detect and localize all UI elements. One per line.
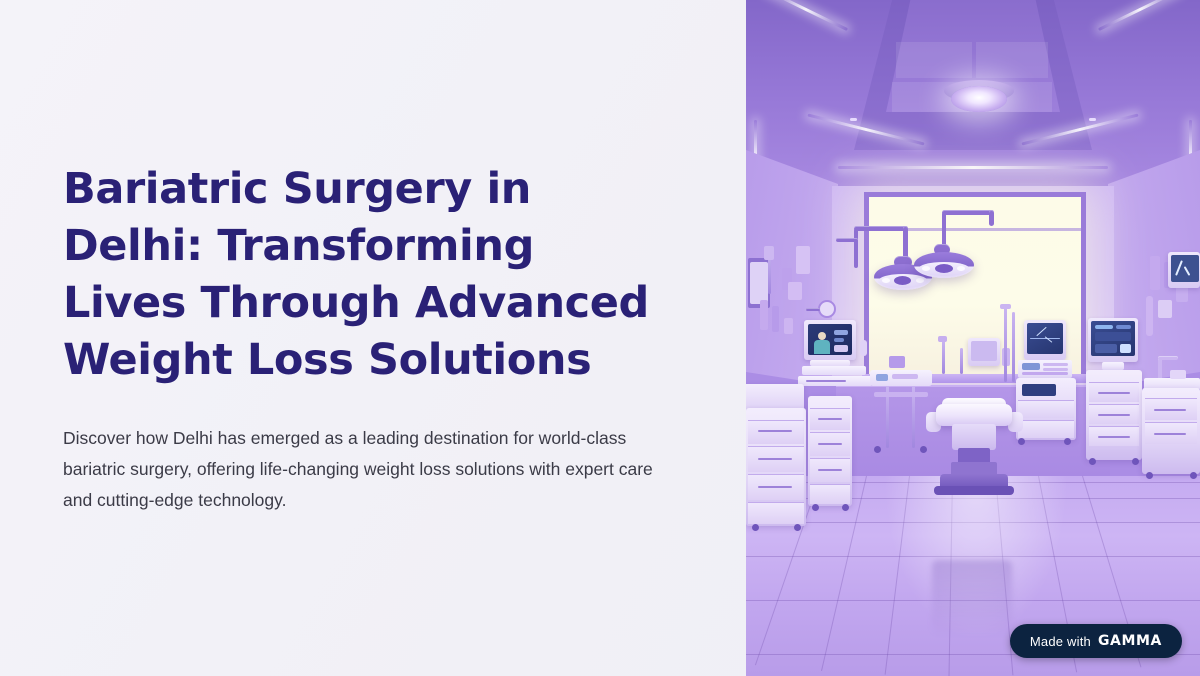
- badge-prefix-text: Made with: [1030, 634, 1091, 649]
- ceiling-led-strip: [764, 0, 848, 31]
- sink-basin: [1170, 370, 1186, 379]
- page-title: Bariatric Surgery in Delhi: Transforming…: [63, 161, 663, 389]
- iv-hook: [1000, 304, 1011, 309]
- surgical-light-arm: [854, 226, 908, 231]
- cart-wheel: [1190, 472, 1197, 479]
- wall-picture-image: [750, 262, 768, 304]
- window-frame: [1081, 192, 1086, 378]
- cart-handle: [806, 380, 846, 382]
- sill-monitor-screen: [971, 341, 997, 361]
- slide-root: Bariatric Surgery in Delhi: Transforming…: [0, 0, 1200, 676]
- cart-wheel: [874, 446, 881, 453]
- ceiling-led-strip: [1098, 0, 1182, 31]
- operating-table-top: [936, 404, 1012, 426]
- sill-stand: [960, 348, 963, 374]
- wall-equipment: [764, 246, 774, 260]
- made-with-gamma-badge[interactable]: Made with GAMMA: [1010, 624, 1182, 658]
- cabinet-drawer: [748, 502, 804, 524]
- ceiling-light: [951, 86, 1007, 112]
- wall-equipment: [1176, 286, 1188, 302]
- surgical-light-arm: [989, 210, 994, 226]
- wall-equipment: [796, 246, 810, 274]
- ceiling-tile: [896, 42, 972, 78]
- monitor-ui-element: [1095, 332, 1131, 341]
- cart-wheel: [812, 504, 819, 511]
- surgical-light-arm: [903, 226, 908, 260]
- monitor-person-body: [814, 340, 830, 354]
- cart-wheel: [842, 504, 849, 511]
- device-keypad: [1043, 363, 1068, 366]
- exam-lamp-arm: [806, 308, 820, 311]
- operating-table-foot: [934, 486, 1014, 495]
- wall-hose: [1146, 296, 1153, 336]
- surgical-light-lens: [916, 278, 924, 283]
- ceiling-tile: [976, 42, 1048, 78]
- surgical-light-lens: [935, 264, 953, 273]
- cart-wheel: [1089, 458, 1096, 465]
- keyboard-tray: [802, 366, 866, 375]
- window-frame: [864, 192, 1086, 197]
- exam-lamp: [818, 300, 836, 318]
- drawer-handle: [758, 430, 792, 432]
- device-display: [1022, 363, 1040, 370]
- sill-device: [938, 336, 947, 342]
- operating-room-image: Made with GAMMA: [746, 0, 1200, 676]
- monitor-ui-element: [834, 345, 848, 352]
- surgical-light-lens: [922, 266, 930, 271]
- bottle: [860, 340, 867, 356]
- cart-wheel: [794, 524, 801, 531]
- surgical-light-arm: [854, 228, 858, 268]
- surgical-light-lens: [957, 266, 965, 271]
- cart-wheel: [1018, 438, 1025, 445]
- floor-reflection: [932, 560, 1012, 636]
- device-keypad: [1022, 372, 1068, 375]
- surgical-light-lens: [882, 278, 890, 283]
- cart-wheel: [752, 524, 759, 531]
- device-display: [876, 374, 888, 381]
- gamma-wordmark: GAMMA: [1098, 633, 1162, 649]
- drawer-handle: [1154, 409, 1186, 411]
- iv-pole: [1012, 312, 1015, 382]
- monitor-ui-element: [1095, 344, 1117, 353]
- device-box: [889, 356, 905, 368]
- drawer-handle: [818, 418, 842, 420]
- drawer-handle: [1154, 433, 1186, 435]
- monitor-ui-element: [1095, 325, 1113, 329]
- ceiling: [746, 0, 1200, 196]
- cart-shelf: [874, 392, 928, 397]
- cart-wheel: [920, 446, 927, 453]
- cart-wheel: [1146, 472, 1153, 479]
- wall-dispenser: [1158, 300, 1172, 318]
- drawer-handle: [1098, 436, 1130, 438]
- cart-wheel: [1132, 458, 1139, 465]
- monitor-ui-element: [834, 338, 844, 342]
- cart-drawer: [1018, 420, 1074, 438]
- device-panel: [892, 374, 918, 379]
- operating-table-neck: [952, 424, 996, 450]
- monitor-stand: [1102, 362, 1124, 370]
- page-subtitle: Discover how Delhi has emerged as a lead…: [63, 423, 675, 516]
- wall-equipment: [772, 306, 779, 332]
- drawer-handle: [1098, 414, 1130, 416]
- cart-wheel: [1064, 438, 1071, 445]
- monitor-ui-element: [1120, 344, 1131, 353]
- cart-drawer: [1018, 400, 1074, 418]
- ceiling-vent: [850, 118, 857, 121]
- wall-equipment: [1150, 256, 1160, 290]
- drawer-handle: [758, 486, 792, 488]
- monitor-person-head: [818, 332, 826, 340]
- faucet-stem: [1158, 358, 1162, 380]
- wall-equipment: [760, 300, 768, 330]
- text-panel: Bariatric Surgery in Delhi: Transforming…: [0, 0, 746, 676]
- surgical-light-arm: [942, 210, 994, 215]
- drawer-handle: [1098, 392, 1130, 394]
- device-keypad: [1043, 368, 1068, 371]
- drawer-handle: [818, 469, 842, 471]
- ceiling-led-strip: [838, 166, 1108, 169]
- sill-stand: [942, 340, 945, 374]
- monitor-ui-element: [1116, 325, 1131, 329]
- iv-pole: [1004, 308, 1007, 382]
- monitor-ui-element: [834, 330, 848, 335]
- wall-equipment: [788, 282, 802, 300]
- surgical-light-arm: [836, 238, 858, 242]
- wall-equipment: [784, 318, 793, 334]
- cabinet-drawer: [748, 420, 804, 444]
- ceiling-vent: [1089, 118, 1096, 121]
- surgical-light-lens: [894, 276, 911, 285]
- faucet-spout: [1158, 356, 1178, 360]
- cabinet-drawer: [810, 484, 850, 504]
- device-display: [1022, 384, 1056, 396]
- drawer-handle: [758, 458, 792, 460]
- drawer-handle: [818, 443, 842, 445]
